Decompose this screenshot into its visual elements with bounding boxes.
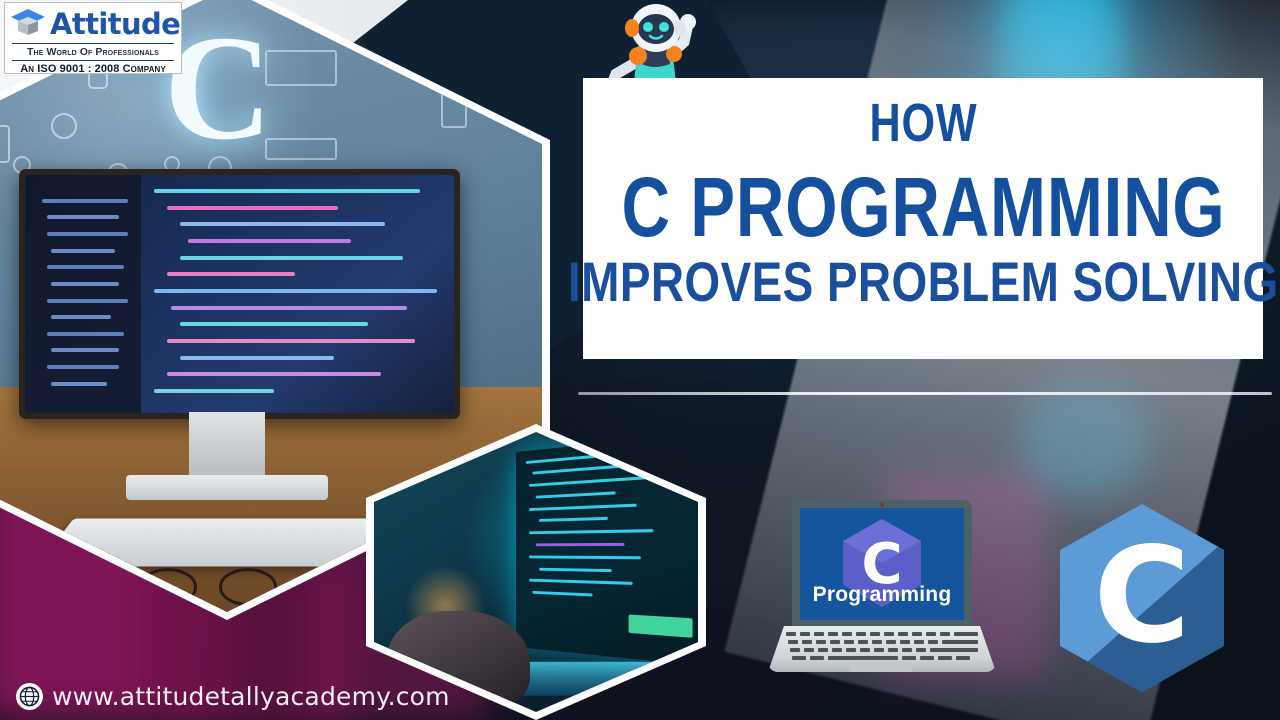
desktop-monitor [19,169,460,419]
footer-website-url[interactable]: www.attitudetallyacademy.com [16,682,450,711]
laptop-keyboard [786,632,978,660]
title-card: HOW C PROGRAMMING IMPROVES PROBLEM SOLVI… [583,78,1263,359]
laptop-trackpad [850,661,912,672]
promo-banner: C [0,0,1280,720]
brand-certification: An ISO 9001 : 2008 Company [10,63,176,75]
logo-divider-2 [12,60,174,61]
brand-logo-badge: Attitude The World Of Professionals An I… [4,2,182,74]
horizontal-divider [578,392,1272,395]
laptop-c-programming-graphic: C Programming [762,500,1002,692]
title-line-main: C PROGRAMMING [621,166,1225,248]
graduation-cap-icon [10,7,46,42]
website-url-text: www.attitudetallyacademy.com [52,682,450,711]
title-line-how: HOW [869,96,977,150]
title-line-sub: IMPROVES PROBLEM SOLVING [568,254,1279,310]
brand-logo-wordmark: Attitude [50,7,180,41]
laptop-screen-label: Programming [800,583,964,607]
svg-text:C: C [1094,519,1191,673]
globe-icon [16,683,43,710]
brand-tagline: The World Of Professionals [10,46,176,58]
logo-divider-1 [12,43,174,44]
c-language-hexagon-icon: C [1054,500,1230,696]
